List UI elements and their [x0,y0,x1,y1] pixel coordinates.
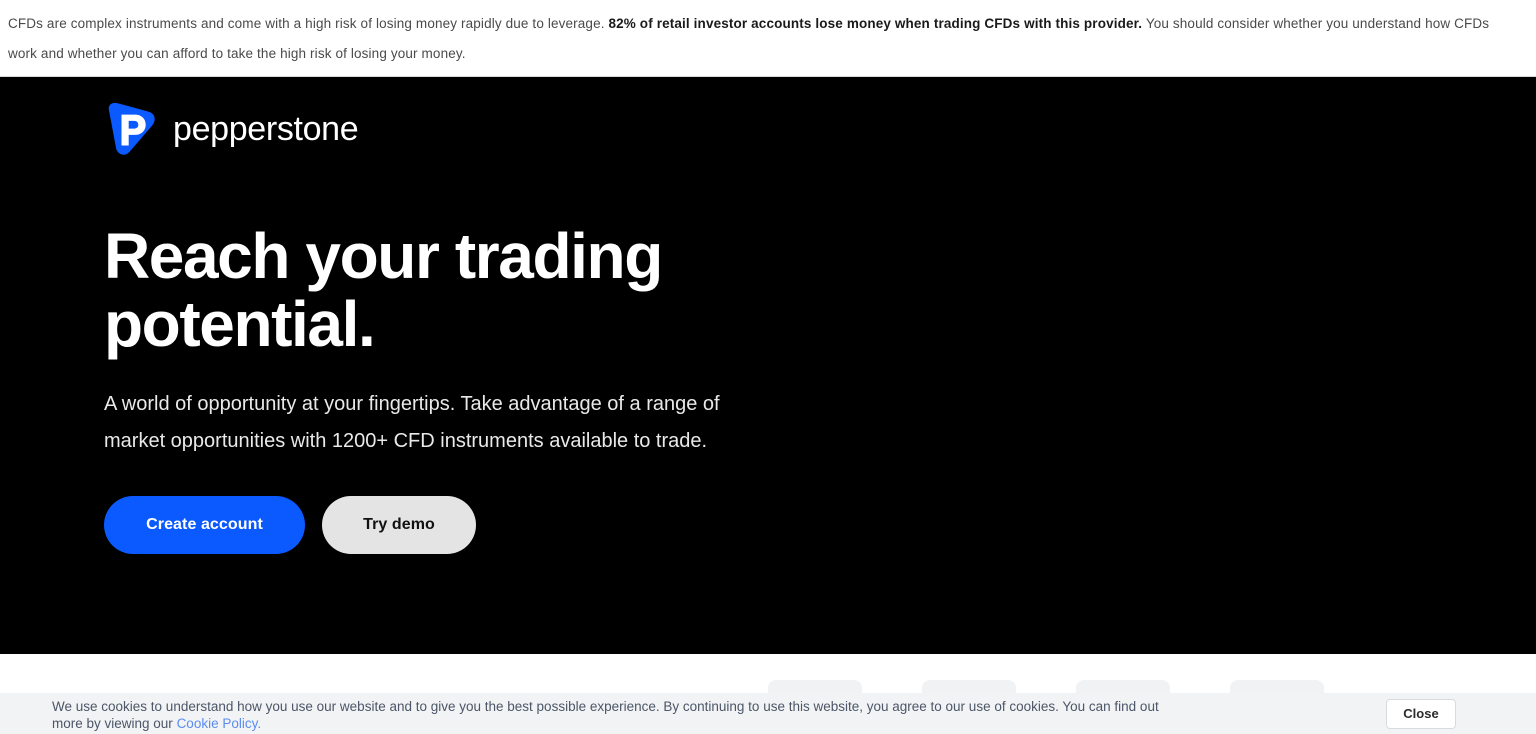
brand-logo[interactable]: pepperstone [104,101,358,156]
cookie-banner: We use cookies to understand how you use… [0,693,1536,734]
try-demo-button[interactable]: Try demo [322,496,476,554]
hero-copy: Reach your trading potential. A world of… [104,222,744,554]
brand-wordmark: pepperstone [173,112,358,146]
page-title: Reach your trading potential. [104,222,664,358]
hero-cta-row: Create account Try demo [104,496,744,554]
risk-warning-bar: CFDs are complex instruments and come wi… [0,0,1536,77]
risk-warning-emphasis: 82% of retail investor accounts lose mon… [609,16,1143,31]
create-account-button[interactable]: Create account [104,496,305,554]
pepperstone-p-logo-icon [104,101,157,156]
hero-section: pepperstone Reach your trading potential… [0,77,1536,654]
risk-warning-lead: CFDs are complex instruments and come wi… [8,16,605,31]
cookie-policy-link[interactable]: Cookie Policy. [177,716,262,731]
hero-subhead: A world of opportunity at your fingertip… [104,386,729,460]
cookie-banner-text: We use cookies to understand how you use… [52,696,1192,732]
cookie-close-button[interactable]: Close [1386,699,1456,729]
risk-warning-text: CFDs are complex instruments and come wi… [8,9,1520,69]
page-root: CFDs are complex instruments and come wi… [0,0,1536,734]
